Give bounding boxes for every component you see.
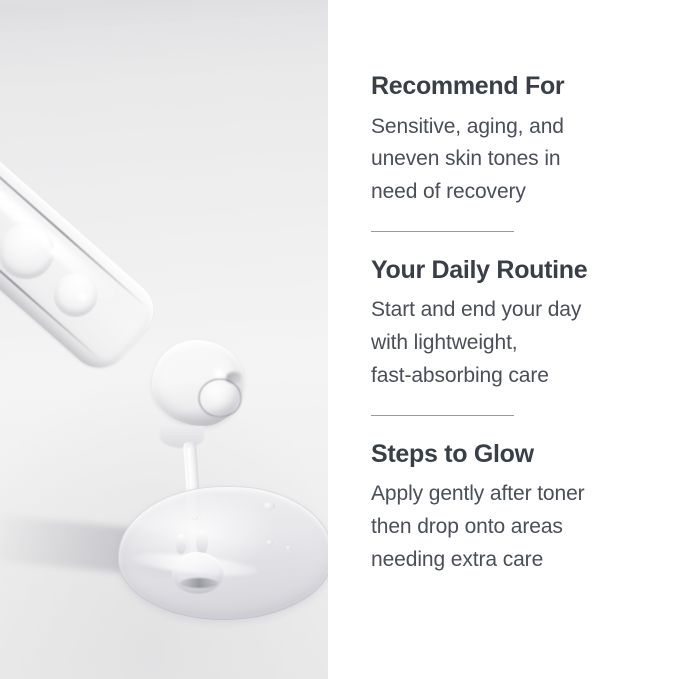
serum-surface-speck	[286, 546, 291, 550]
body-line: Apply gently after toner	[371, 478, 639, 511]
section-title-recommend-for: Recommend For	[371, 72, 639, 102]
section-title-your-daily-routine: Your Daily Routine	[371, 256, 639, 286]
body-line: fast-absorbing care	[371, 360, 639, 393]
body-line: Start and end your day	[371, 294, 639, 327]
section-title-steps-to-glow: Steps to Glow	[371, 440, 639, 470]
info-panel: Recommend For Sensitive, aging, and unev…	[328, 0, 679, 679]
serum-droplet	[176, 534, 186, 554]
product-info-card: Recommend For Sensitive, aging, and unev…	[0, 0, 679, 679]
dropper-tip-refraction	[226, 372, 242, 384]
serum-droplet	[196, 530, 208, 554]
body-line: then drop onto areas	[371, 511, 639, 544]
section-steps-to-glow: Steps to Glow Apply gently after toner t…	[371, 440, 639, 577]
section-divider-2	[371, 415, 514, 416]
body-line: Sensitive, aging, and	[371, 111, 639, 144]
serum-surface-speck	[192, 516, 198, 520]
section-divider-1	[371, 231, 514, 232]
product-photo-serum-dropper	[0, 0, 328, 679]
serum-impact-shadow	[180, 578, 218, 588]
serum-surface-speck	[262, 502, 275, 510]
dropper-tip-inner-ring	[198, 378, 242, 418]
body-line: uneven skin tones in	[371, 143, 639, 176]
body-line: needing extra care	[371, 544, 639, 577]
dropper-tip-neck	[160, 426, 204, 448]
section-body-steps-to-glow: Apply gently after toner then drop onto …	[371, 478, 639, 576]
serum-surface-speck	[266, 540, 273, 545]
section-your-daily-routine: Your Daily Routine Start and end your da…	[371, 256, 639, 393]
body-line: with lightweight,	[371, 327, 639, 360]
glass-pipette-barrel	[0, 96, 166, 380]
section-body-recommend-for: Sensitive, aging, and uneven skin tones …	[371, 111, 639, 209]
body-line: need of recovery	[371, 176, 639, 209]
specular-highlight	[216, 370, 222, 376]
section-recommend-for: Recommend For Sensitive, aging, and unev…	[371, 72, 639, 209]
background-horizon-band	[0, 0, 328, 86]
section-body-your-daily-routine: Start and end your day with lightweight,…	[371, 294, 639, 392]
